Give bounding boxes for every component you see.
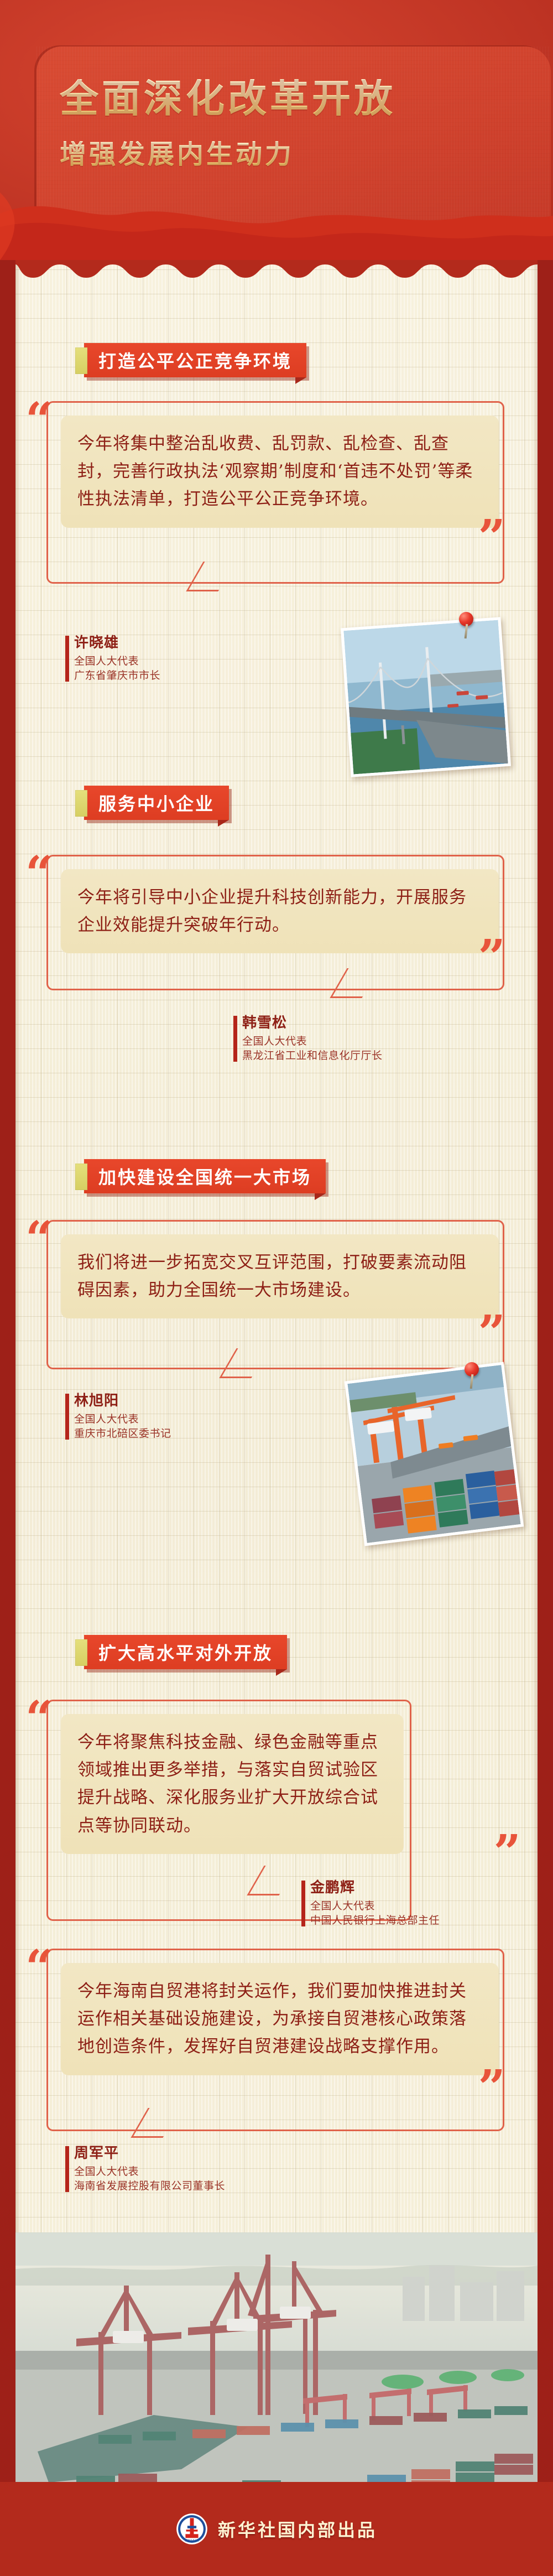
banner-fold-icon [315, 1193, 326, 1200]
quote-open-icon: “ [25, 1944, 53, 1992]
quote-text-3: 我们将进一步拓宽交叉互评范围，打破要素流动阻碍因素，助力全国统一大市场建设。 [61, 1234, 499, 1318]
quote-close-icon: ” [478, 934, 505, 981]
quote-text-2: 今年将引导中小企业提升科技创新能力，开展服务企业效能提升突破年行动。 [61, 869, 499, 953]
quote-text-5: 今年海南自贸港将封关运作，我们要加快推进封关运作相关基础设施建设，为承接自贸港核… [61, 1963, 499, 2075]
speaker-attribution-4: 金鹏辉 全国人大代表 中国人民银行上海总部主任 [301, 1878, 440, 1929]
infographic-poster: 全面深化改革开放 增强发展内生动力 打造公平公正竞争环境 “ 今年将集中整治乱收… [0, 0, 553, 2576]
speaker-attribution-1: 许晓雄 全国人大代表 广东省肇庆市市长 [65, 633, 160, 684]
speaker-attribution-2: 韩雪松 全国人大代表 黑龙江省工业和信息化厅厅长 [233, 1014, 383, 1064]
section-banner-2: 服务中小企业 [84, 786, 229, 820]
quote-close-icon: ” [494, 1829, 521, 1877]
quote-text-4: 今年将聚焦科技金融、绿色金融等重点领域推出更多举措，与落实自贸试验区提升战略、深… [61, 1714, 404, 1854]
section-banner-3: 加快建设全国统一大市场 [84, 1159, 326, 1193]
port-containers-illustration [347, 1365, 520, 1543]
photo-port-containers [345, 1362, 524, 1546]
speaker-attribution-3: 林旭阳 全国人大代表 重庆市北碚区委书记 [65, 1391, 171, 1442]
section-banner-label-1: 打造公平公正竞争环境 [98, 347, 292, 373]
quote-close-icon: ” [478, 2064, 505, 2112]
speaker-role-5b: 海南省发展控股有限公司董事长 [74, 2179, 225, 2194]
quote-open-icon: “ [25, 1695, 53, 1743]
quote-open-icon: “ [25, 1216, 53, 1263]
tape-strip-icon [75, 1639, 87, 1666]
tape-strip-icon [75, 790, 87, 817]
pushpin-icon-2 [465, 1362, 479, 1377]
bridge-over-river-illustration [343, 620, 508, 775]
speaker-name-5: 周军平 [74, 2144, 225, 2162]
quote-open-icon: “ [25, 397, 53, 444]
silk-ribbon-decoration [0, 160, 553, 260]
paper-left-shadow [15, 260, 21, 2534]
poster-footer: XINHUA 新华社国内部出品 [0, 2482, 553, 2576]
quote-text-1: 今年将集中整治乱收费、乱罚款、乱检查、乱查封，完善行政执法‘观察期’制度和‘首违… [61, 416, 499, 528]
poster-header: 全面深化改革开放 增强发展内生动力 [0, 0, 553, 260]
speaker-role-5a: 全国人大代表 [74, 2165, 225, 2180]
quote-open-icon: “ [25, 850, 53, 898]
speaker-role-3b: 重庆市北碚区委书记 [74, 1427, 171, 1442]
tape-strip-icon [75, 347, 87, 374]
speaker-role-4a: 全国人大代表 [310, 1899, 440, 1914]
speaker-name-3: 林旭阳 [74, 1391, 171, 1410]
torn-paper-top-edge [15, 260, 538, 279]
quote-block-3: “ 我们将进一步拓宽交叉互评范围，打破要素流动阻碍因素，助力全国统一大市场建设。… [29, 1220, 511, 1369]
section-banner-label-4: 扩大高水平对外开放 [98, 1639, 273, 1665]
speaker-role-1a: 全国人大代表 [74, 655, 160, 669]
speaker-role-2b: 黑龙江省工业和信息化厅厅长 [242, 1049, 383, 1064]
page-subtitle: 增强发展内生动力 [60, 141, 502, 168]
banner-fold-icon [276, 1669, 287, 1676]
banner-fold-icon [295, 377, 306, 384]
paper-right-shadow [532, 260, 538, 2534]
footer-label: 新华社国内部出品 [218, 2516, 377, 2542]
quote-close-icon: ” [478, 1310, 505, 1357]
section-banner-label-2: 服务中小企业 [98, 790, 215, 816]
tape-strip-icon [75, 1164, 87, 1190]
section-banner-1: 打造公平公正竞争环境 [84, 343, 306, 377]
xinhua-logo: XINHUA [176, 2513, 208, 2545]
quote-block-1: “ 今年将集中整治乱收费、乱罚款、乱检查、乱查封，完善行政执法‘观察期’制度和‘… [29, 401, 511, 584]
banner-fold-icon [218, 820, 229, 827]
section-banner-label-3: 加快建设全国统一大市场 [98, 1164, 311, 1189]
section-banner-4: 扩大高水平对外开放 [84, 1635, 287, 1669]
speaker-role-2a: 全国人大代表 [242, 1035, 383, 1050]
photo-bridge [341, 617, 511, 777]
speaker-name-1: 许晓雄 [74, 633, 160, 652]
pushpin-icon-1 [459, 612, 473, 626]
speaker-role-3a: 全国人大代表 [74, 1412, 171, 1427]
svg-text:XINHUA: XINHUA [185, 2539, 199, 2543]
page-title: 全面深化改革开放 [60, 79, 502, 118]
quote-block-5: “ 今年海南自贸港将封关运作，我们要加快推进封关运作相关基础设施建设，为承接自贸… [29, 1949, 511, 2131]
speaker-role-1b: 广东省肇庆市市长 [74, 669, 160, 684]
speaker-attribution-5: 周军平 全国人大代表 海南省发展控股有限公司董事长 [65, 2144, 225, 2194]
speaker-name-4: 金鹏辉 [310, 1878, 440, 1897]
speaker-name-2: 韩雪松 [242, 1014, 383, 1032]
quote-block-2: “ 今年将引导中小企业提升科技创新能力，开展服务企业效能提升突破年行动。 ” [29, 855, 511, 990]
quote-close-icon: ” [478, 514, 505, 562]
speaker-role-4b: 中国人民银行上海总部主任 [310, 1914, 440, 1929]
